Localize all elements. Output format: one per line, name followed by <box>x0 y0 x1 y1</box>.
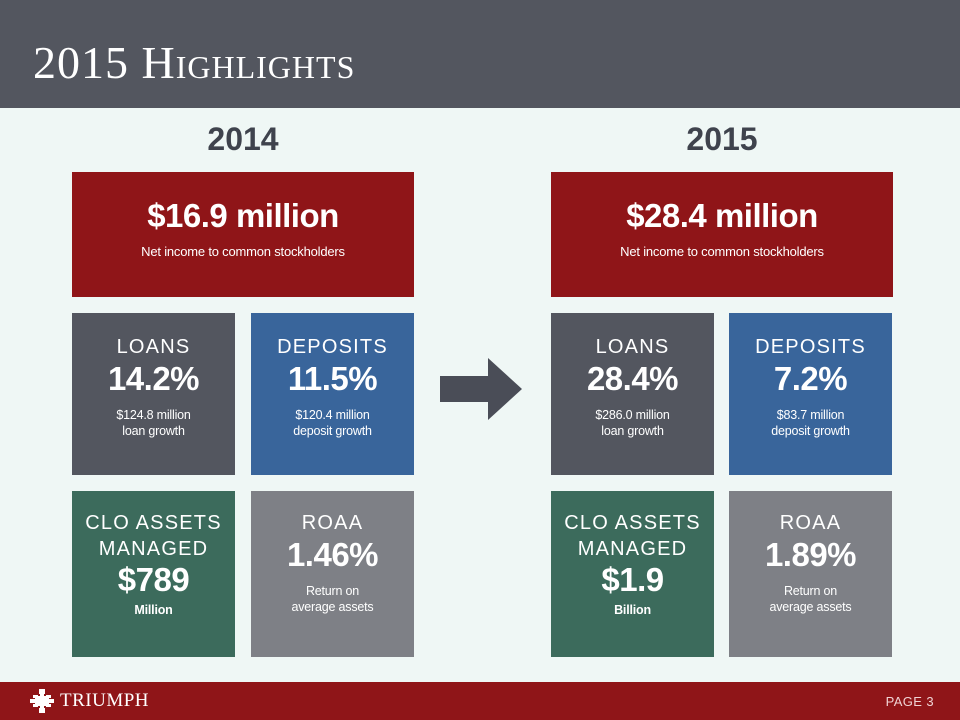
metric-subtext: $120.4 million deposit growth <box>293 407 372 440</box>
slide-canvas: 2015 Highlights 2014 2015 $16.9 million … <box>0 0 960 720</box>
metric-label: CLO ASSETS MANAGED <box>551 511 714 562</box>
metric-subtext-line1: $124.8 million <box>116 407 190 424</box>
column-year-heading-2014: 2014 <box>72 121 414 158</box>
metric-subtext-line1: $286.0 million <box>595 407 669 424</box>
page-number: PAGE 3 <box>886 694 934 709</box>
metric-subtext: $124.8 million loan growth <box>116 407 190 440</box>
metric-subtext: $83.7 million deposit growth <box>771 407 850 440</box>
metric-subtext-line2: average assets <box>292 599 374 616</box>
metric-value: $789 <box>118 562 189 599</box>
metric-card-deposits-2015: DEPOSITS 7.2% $83.7 million deposit grow… <box>729 313 892 475</box>
metric-subtext-line2: deposit growth <box>293 423 372 440</box>
page-title: 2015 Highlights <box>33 36 355 89</box>
metric-value: 1.46% <box>287 537 378 574</box>
metric-card-roaa-2014: ROAA 1.46% Return on average assets <box>251 491 414 657</box>
arrow-right-icon <box>440 358 522 420</box>
cross-logo-icon <box>30 689 54 713</box>
metric-card-clo-2015: CLO ASSETS MANAGED $1.9 Billion <box>551 491 714 657</box>
metric-value: 11.5% <box>288 361 377 398</box>
metric-subtext: Return on average assets <box>292 583 374 616</box>
metric-value: $1.9 <box>601 562 663 599</box>
net-income-caption: Net income to common stockholders <box>141 244 345 259</box>
metric-card-clo-2014: CLO ASSETS MANAGED $789 Million <box>72 491 235 657</box>
metric-value: 1.89% <box>765 537 856 574</box>
metric-subtext-line1: Return on <box>292 583 374 600</box>
metric-subtext-line2: loan growth <box>116 423 190 440</box>
metric-card-loans-2015: LOANS 28.4% $286.0 million loan growth <box>551 313 714 475</box>
brand-name: TRIUMPH <box>60 690 149 712</box>
metric-label: DEPOSITS <box>277 335 388 361</box>
column-year-heading-2015: 2015 <box>551 121 893 158</box>
metric-card-loans-2014: LOANS 14.2% $124.8 million loan growth <box>72 313 235 475</box>
net-income-value: $28.4 million <box>626 198 818 234</box>
metric-label: DEPOSITS <box>755 335 866 361</box>
metric-label: LOANS <box>117 335 191 361</box>
metric-value: 14.2% <box>108 361 199 398</box>
metric-subtext-line1: $83.7 million <box>771 407 850 424</box>
metric-card-roaa-2015: ROAA 1.89% Return on average assets <box>729 491 892 657</box>
metric-subtext-line1: $120.4 million <box>293 407 372 424</box>
metric-unit: Million <box>134 603 172 617</box>
metric-label: ROAA <box>302 511 363 537</box>
metric-unit: Billion <box>614 603 651 617</box>
net-income-card-2014: $16.9 million Net income to common stock… <box>72 172 414 297</box>
metric-label: LOANS <box>596 335 670 361</box>
metric-subtext-line2: loan growth <box>595 423 669 440</box>
metric-subtext-line2: average assets <box>770 599 852 616</box>
metric-label: CLO ASSETS MANAGED <box>72 511 235 562</box>
metric-subtext-line1: Return on <box>770 583 852 600</box>
metric-subtext-line2: deposit growth <box>771 423 850 440</box>
metric-value: 7.2% <box>774 361 847 398</box>
metric-value: 28.4% <box>587 361 678 398</box>
net-income-value: $16.9 million <box>147 198 339 234</box>
metric-card-deposits-2014: DEPOSITS 11.5% $120.4 million deposit gr… <box>251 313 414 475</box>
metric-subtext: $286.0 million loan growth <box>595 407 669 440</box>
metric-label: ROAA <box>780 511 841 537</box>
net-income-caption: Net income to common stockholders <box>620 244 824 259</box>
metric-subtext: Return on average assets <box>770 583 852 616</box>
net-income-card-2015: $28.4 million Net income to common stock… <box>551 172 893 297</box>
